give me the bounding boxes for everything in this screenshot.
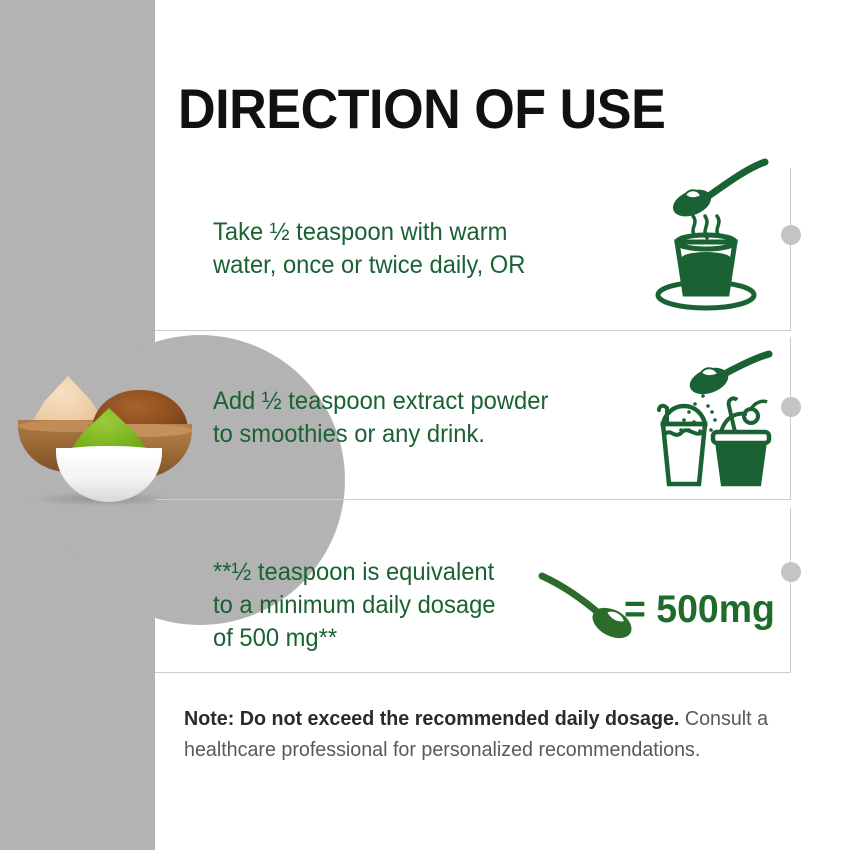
instruction-text-dosage: **½ teaspoon is equivalent to a minimum … [213,556,496,655]
white-bowl-body [56,448,162,502]
instruction-line: **½ teaspoon is equivalent [213,556,496,589]
instruction-line: Take ½ teaspoon with warm [213,216,525,249]
instruction-line: Add ½ teaspoon extract powder [213,385,548,418]
dosage-equivalence-label: = 500mg [624,588,775,632]
spoon-pouring-into-smoothies-icon [655,348,805,503]
timeline-dot-3 [781,562,801,582]
instruction-text-smoothie: Add ½ teaspoon extract powder to smoothi… [213,385,548,451]
spoon-over-warm-glass-icon [655,152,805,317]
instruction-text-warm-water: Take ½ teaspoon with warm water, once or… [213,216,525,282]
footer-note: Note: Do not exceed the recommended dail… [184,703,784,765]
page-title: DIRECTION OF USE [178,76,665,141]
footer-note-bold: Note: Do not exceed the recommended dail… [184,707,679,730]
instruction-line: to a minimum daily dosage [213,589,496,622]
white-bowl-green-powder [56,412,162,502]
instruction-line: to smoothies or any drink. [213,418,548,451]
instruction-line: water, once or twice daily, OR [213,249,525,282]
instruction-line: of 500 mg** [213,622,496,655]
infographic-root: DIRECTION OF USE Take ½ teaspoon with wa… [0,0,850,850]
